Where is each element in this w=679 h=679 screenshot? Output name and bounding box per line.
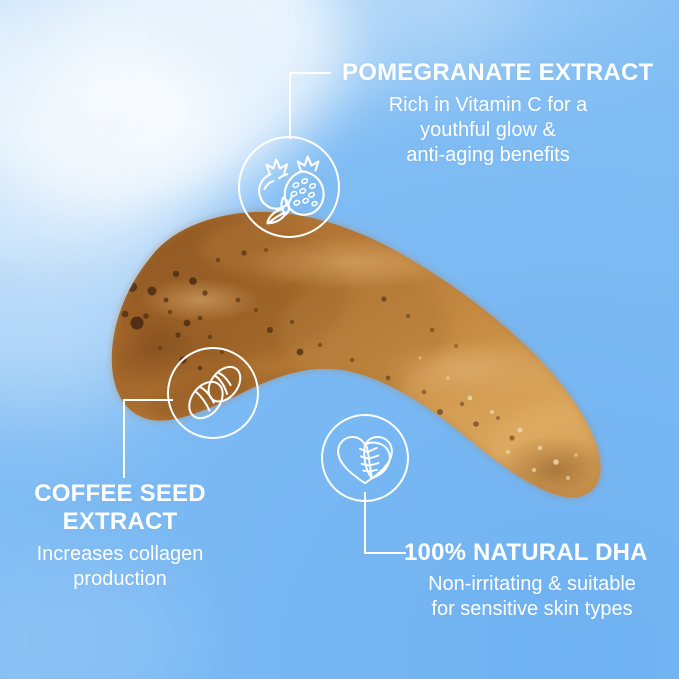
coffee-connector-vertical bbox=[123, 399, 125, 478]
pomegranate-body-line: youthful glow & bbox=[342, 118, 634, 143]
dha-body-line: for sensitive skin types bbox=[404, 597, 660, 622]
coffee-title: COFFEE SEED EXTRACT bbox=[14, 480, 226, 536]
coffee-title-line: EXTRACT bbox=[14, 508, 226, 536]
pomegranate-callout-text: POMEGRANATE EXTRACT Rich in Vitamin C fo… bbox=[342, 59, 634, 168]
dha-callout-text: 100% NATURAL DHA Non-irritating & suitab… bbox=[404, 539, 660, 622]
pomegranate-connector-vertical bbox=[289, 73, 291, 139]
pomegranate-icon-circle bbox=[238, 136, 340, 238]
pomegranate-connector-horizontal bbox=[289, 72, 331, 74]
dha-title: 100% NATURAL DHA bbox=[404, 539, 660, 567]
coffee-body-line: Increases collagen bbox=[14, 542, 226, 567]
coffee-connector-horizontal bbox=[123, 399, 173, 401]
coffee-icon-circle bbox=[167, 347, 259, 439]
coffee-callout-text: COFFEE SEED EXTRACT Increases collagen p… bbox=[14, 480, 226, 592]
coffee-body: Increases collagen production bbox=[14, 542, 226, 592]
coffee-body-line: production bbox=[14, 567, 226, 592]
coffee-beans-icon bbox=[169, 349, 257, 437]
pomegranate-body: Rich in Vitamin C for a youthful glow & … bbox=[342, 93, 634, 168]
pomegranate-body-line: Rich in Vitamin C for a bbox=[342, 93, 634, 118]
coffee-title-line: COFFEE SEED bbox=[14, 480, 226, 508]
infographic-canvas: POMEGRANATE EXTRACT Rich in Vitamin C fo… bbox=[0, 0, 679, 679]
pomegranate-title: POMEGRANATE EXTRACT bbox=[342, 59, 634, 87]
pomegranate-icon bbox=[240, 138, 338, 236]
dha-icon-circle bbox=[321, 414, 409, 502]
pomegranate-body-line: anti-aging benefits bbox=[342, 143, 634, 168]
dha-body: Non-irritating & suitable for sensitive … bbox=[404, 572, 660, 622]
dha-body-line: Non-irritating & suitable bbox=[404, 572, 660, 597]
dha-connector-horizontal bbox=[364, 552, 406, 554]
heart-leaf-icon bbox=[323, 416, 407, 500]
